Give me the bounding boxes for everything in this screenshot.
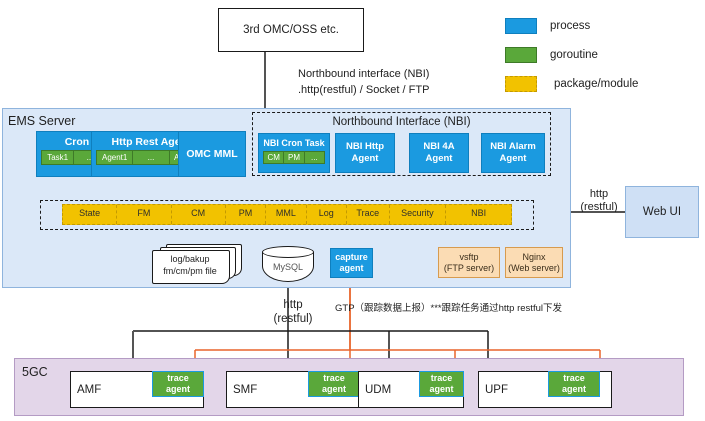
module-bar: State FM CM PM MML Log Trace Security NB… bbox=[62, 204, 512, 225]
file-store-icon: log/bakup fm/cm/pm file bbox=[152, 244, 242, 284]
goroutine-cell: PM bbox=[284, 152, 304, 163]
server-nginx-line2: (Web server) bbox=[508, 263, 560, 274]
legend-item-goroutine: goroutine bbox=[505, 47, 598, 63]
third-party-oss-label: 3rd OMC/OSS etc. bbox=[243, 24, 339, 36]
trace-agent-smf-line2: agent bbox=[322, 384, 346, 395]
legend: process goroutine package/module bbox=[505, 18, 700, 88]
trace-agent-upf-line2: agent bbox=[562, 384, 586, 395]
webui-link-label-line2: (restful) bbox=[572, 201, 626, 214]
goroutine-cell: CM bbox=[264, 152, 284, 163]
nbi-link-label-line1: Northbound interface (NBI) bbox=[298, 68, 429, 81]
module-cell-security[interactable]: Security bbox=[390, 205, 447, 224]
legend-item-package-module: package/module bbox=[505, 76, 638, 92]
server-nginx-line1: Nginx bbox=[522, 252, 545, 263]
trace-agent-udm[interactable]: trace agent bbox=[419, 371, 464, 397]
legend-swatch-package-module-icon bbox=[505, 76, 537, 92]
mysql-label: MySQL bbox=[262, 262, 314, 272]
goroutine-cell: ... bbox=[133, 151, 169, 164]
nf-smf-label: SMF bbox=[233, 384, 257, 396]
process-nbi-4a-agent[interactable]: NBI 4A Agent bbox=[409, 133, 469, 173]
legend-item-process: process bbox=[505, 18, 590, 34]
goroutine-cell: Task1 bbox=[42, 151, 74, 164]
web-ui-box[interactable]: Web UI bbox=[625, 186, 699, 238]
goroutine-strip-nbi-cron-task: CM PM ... bbox=[263, 151, 325, 164]
5gc-title: 5GC bbox=[22, 365, 48, 379]
capture-agent-label-line2: agent bbox=[339, 263, 363, 273]
webui-link-label-line1: http bbox=[575, 188, 623, 201]
legend-label-process: process bbox=[550, 20, 590, 32]
trace-agent-smf-line1: trace bbox=[323, 373, 345, 384]
module-cell-fm[interactable]: FM bbox=[117, 205, 171, 224]
legend-swatch-process-icon bbox=[505, 18, 537, 34]
architecture-diagram: 3rd OMC/OSS etc. Northbound interface (N… bbox=[0, 0, 705, 421]
trace-agent-upf[interactable]: trace agent bbox=[548, 371, 600, 397]
web-ui-label: Web UI bbox=[643, 206, 681, 218]
server-vsftp[interactable]: vsftp (FTP server) bbox=[438, 247, 500, 278]
legend-label-goroutine: goroutine bbox=[550, 49, 598, 61]
gtp-note-label: GTP（跟踪数据上报）***跟踪任务通过http restful下发 bbox=[335, 302, 562, 315]
process-omc-mml-label: OMC MML bbox=[179, 148, 245, 160]
third-party-oss-box[interactable]: 3rd OMC/OSS etc. bbox=[218, 8, 364, 52]
module-cell-log[interactable]: Log bbox=[307, 205, 347, 224]
nf-udm-label: UDM bbox=[365, 384, 391, 396]
process-nbi-alarm-agent-label: NBI Alarm Agent bbox=[482, 141, 544, 165]
goroutine-cell: ... bbox=[305, 152, 324, 163]
nf-upf-label: UPF bbox=[485, 384, 508, 396]
server-vsftp-line2: (FTP server) bbox=[444, 263, 494, 274]
module-cell-mml[interactable]: MML bbox=[266, 205, 306, 224]
module-cell-state[interactable]: State bbox=[63, 205, 117, 224]
nf-amf-label: AMF bbox=[77, 384, 101, 396]
process-nbi-http-agent[interactable]: NBI Http Agent bbox=[335, 133, 395, 173]
ems-5gc-link-label-line1: http bbox=[270, 299, 316, 312]
process-nbi-cron-task[interactable]: NBI Cron Task CM PM ... bbox=[258, 133, 330, 173]
trace-agent-udm-line1: trace bbox=[431, 373, 453, 384]
cylinder-top bbox=[262, 246, 314, 258]
trace-agent-smf[interactable]: trace agent bbox=[308, 371, 360, 397]
process-nbi-alarm-agent[interactable]: NBI Alarm Agent bbox=[481, 133, 545, 173]
process-nbi-4a-agent-label: NBI 4A Agent bbox=[410, 141, 468, 165]
server-nginx[interactable]: Nginx (Web server) bbox=[505, 247, 563, 278]
legend-swatch-goroutine-icon bbox=[505, 47, 537, 63]
trace-agent-upf-line1: trace bbox=[563, 373, 585, 384]
goroutine-cell: Agent1 bbox=[97, 151, 133, 164]
process-omc-mml[interactable]: OMC MML bbox=[178, 131, 246, 177]
file-store-label-line2: fm/cm/pm file bbox=[152, 266, 228, 277]
trace-agent-amf-line2: agent bbox=[166, 384, 190, 395]
process-nbi-cron-task-label: NBI Cron Task bbox=[259, 134, 329, 151]
module-cell-trace[interactable]: Trace bbox=[347, 205, 390, 224]
file-store-label-line1: log/bakup bbox=[152, 254, 228, 265]
module-cell-cm[interactable]: CM bbox=[172, 205, 226, 224]
process-nbi-http-agent-label: NBI Http Agent bbox=[336, 141, 394, 165]
nbi-link-label-line2: .http(restful) / Socket / FTP bbox=[298, 84, 429, 97]
legend-label-package-module: package/module bbox=[554, 78, 638, 90]
nbi-group-label: Northbound Interface (NBI) bbox=[252, 116, 551, 128]
process-capture-agent[interactable]: capture agent bbox=[330, 248, 373, 278]
trace-agent-amf-line1: trace bbox=[167, 373, 189, 384]
server-vsftp-line1: vsftp bbox=[459, 252, 478, 263]
trace-agent-amf[interactable]: trace agent bbox=[152, 371, 204, 397]
capture-agent-label-line1: capture bbox=[335, 252, 368, 262]
ems-server-title: EMS Server bbox=[8, 114, 75, 128]
mysql-database-icon: MySQL bbox=[262, 246, 314, 282]
module-cell-nbi[interactable]: NBI bbox=[446, 205, 511, 224]
trace-agent-udm-line2: agent bbox=[429, 384, 453, 395]
ems-5gc-link-label-line2: (restful) bbox=[266, 313, 320, 326]
module-cell-pm[interactable]: PM bbox=[226, 205, 266, 224]
